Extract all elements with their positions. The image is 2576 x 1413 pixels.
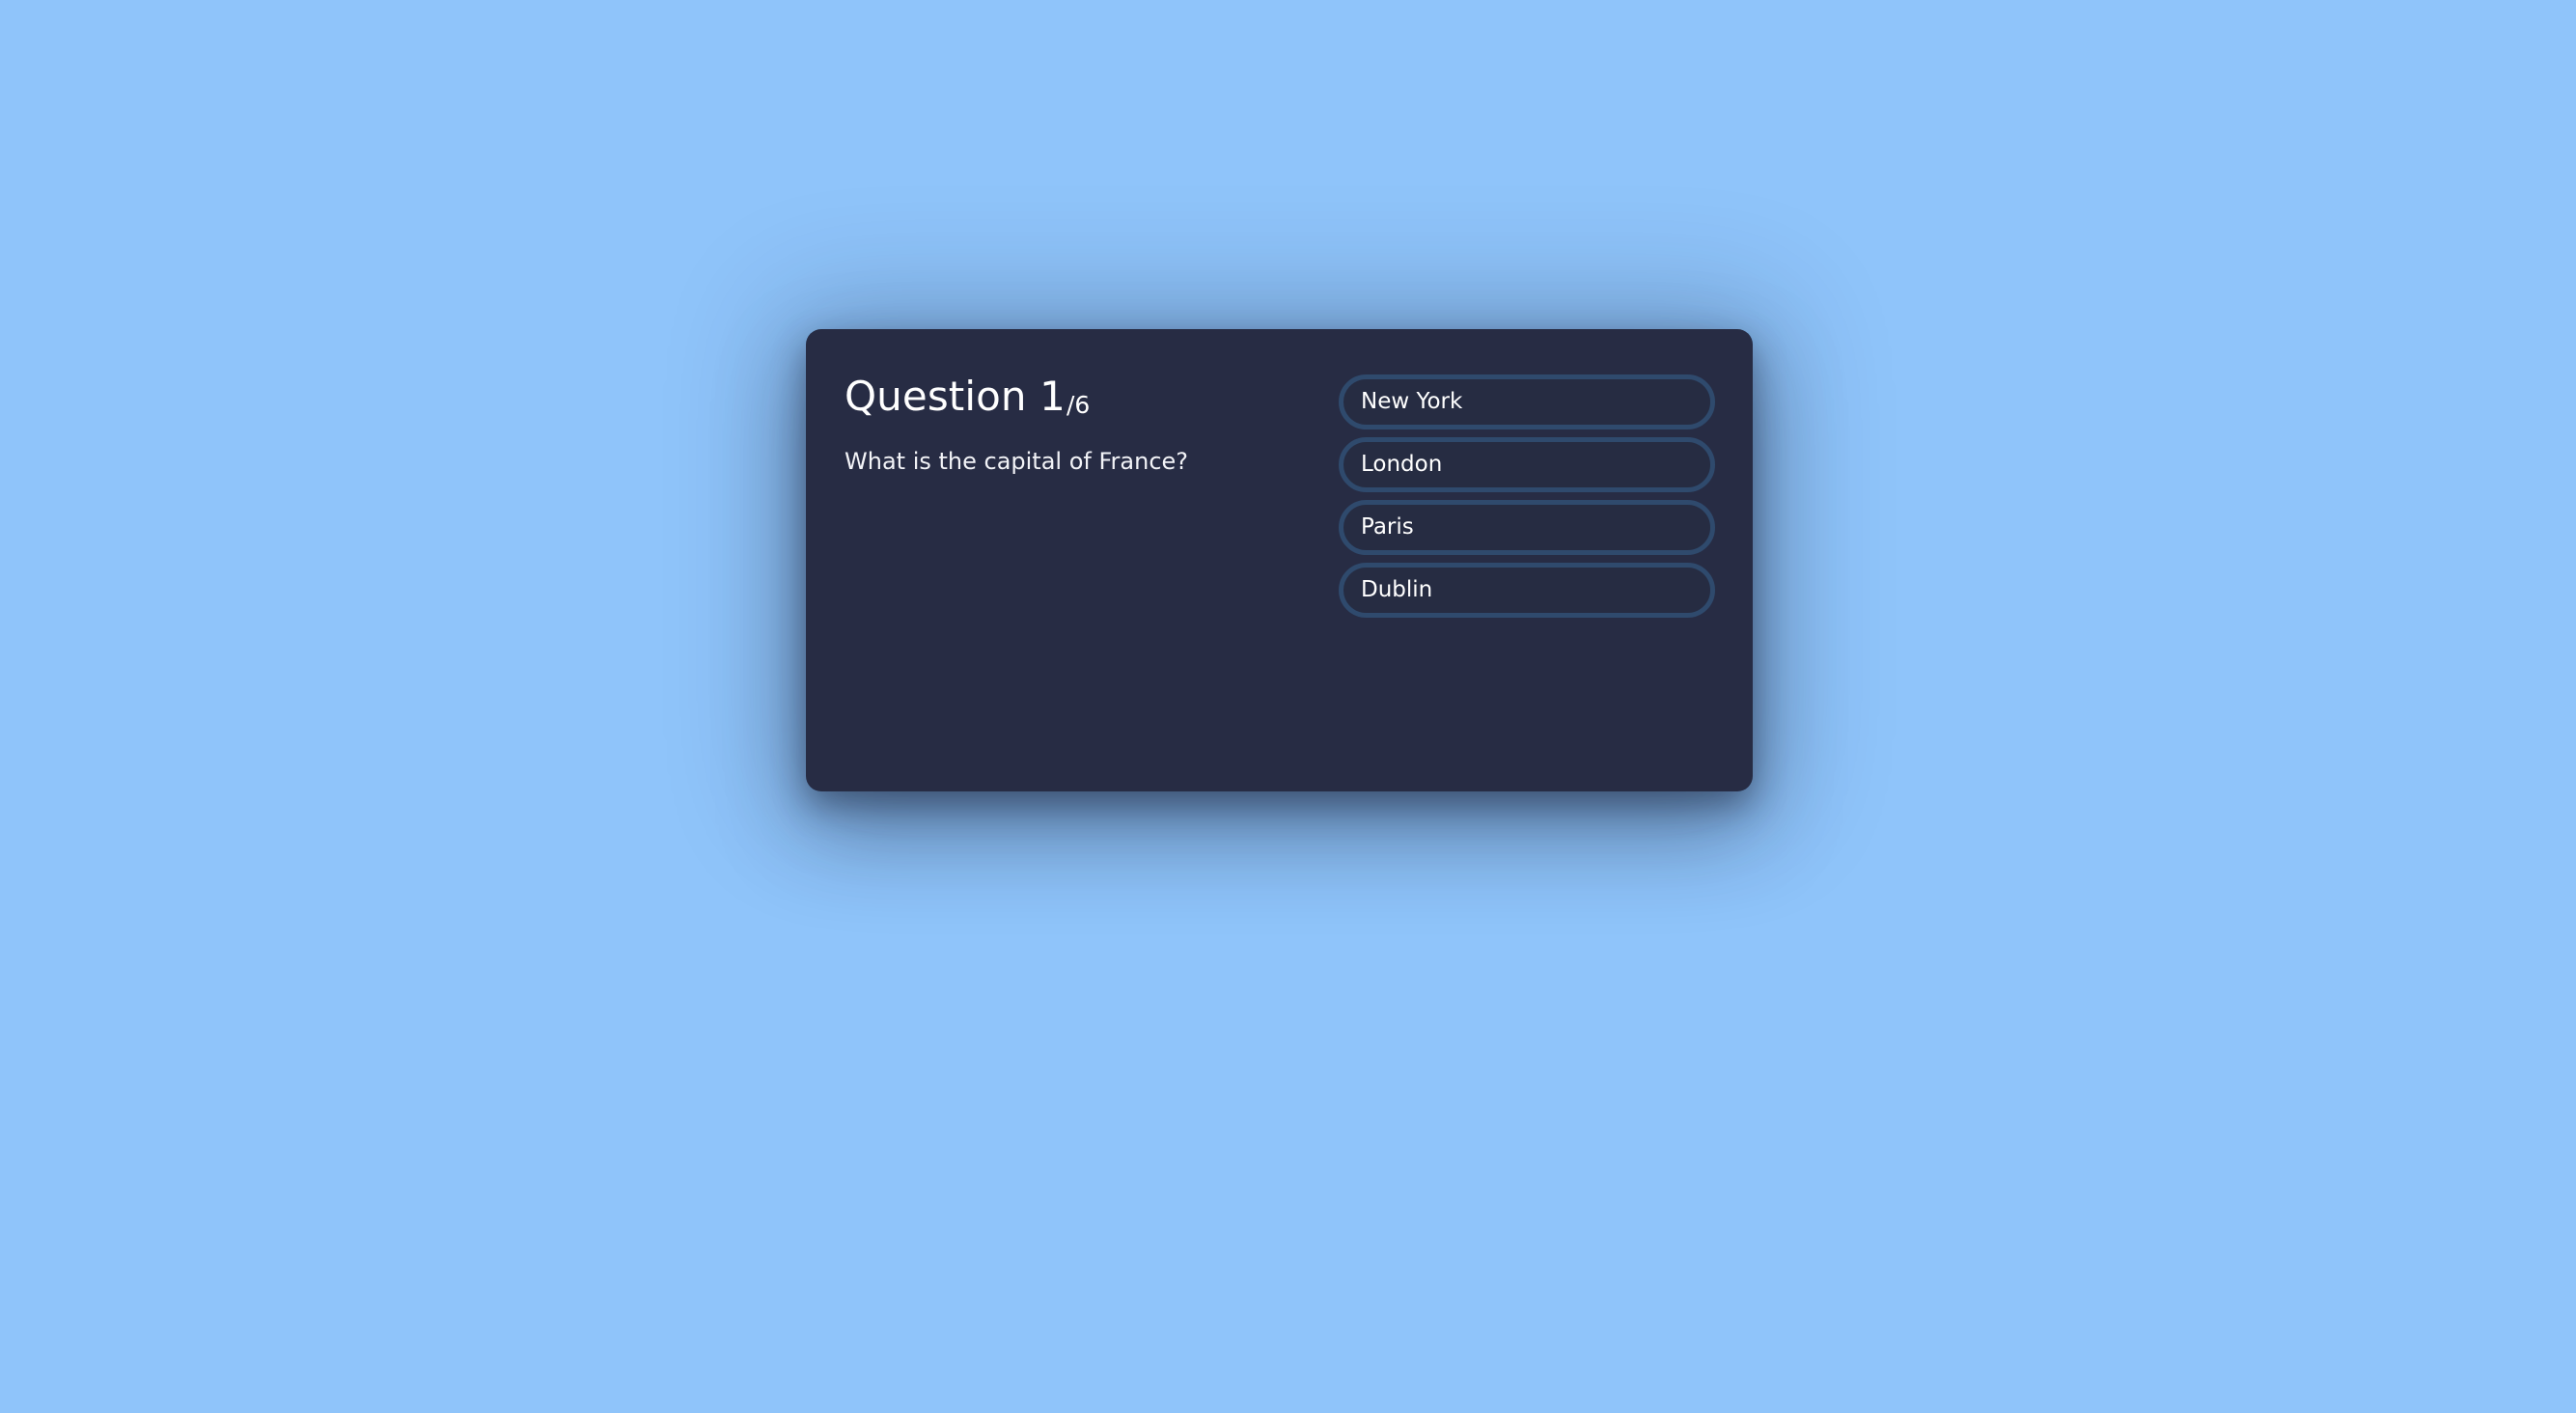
answer-option-2[interactable]: London <box>1339 437 1715 492</box>
answer-options-list: New York London Paris Dublin <box>1339 374 1715 618</box>
question-index: 1 <box>1039 373 1066 420</box>
question-prompt: What is the capital of France? <box>845 418 1339 477</box>
question-heading: Question 1/6 <box>845 375 1339 418</box>
answer-option-3[interactable]: Paris <box>1339 500 1715 555</box>
question-column: Question 1/6 What is the capital of Fran… <box>845 374 1339 477</box>
question-counter: /6 <box>1066 391 1090 419</box>
answer-option-1[interactable]: New York <box>1339 374 1715 429</box>
question-heading-label: Question <box>845 373 1027 420</box>
quiz-card: Question 1/6 What is the capital of Fran… <box>806 329 1753 791</box>
question-index-wrap: 1/6 <box>1027 373 1091 420</box>
answer-option-4[interactable]: Dublin <box>1339 563 1715 618</box>
